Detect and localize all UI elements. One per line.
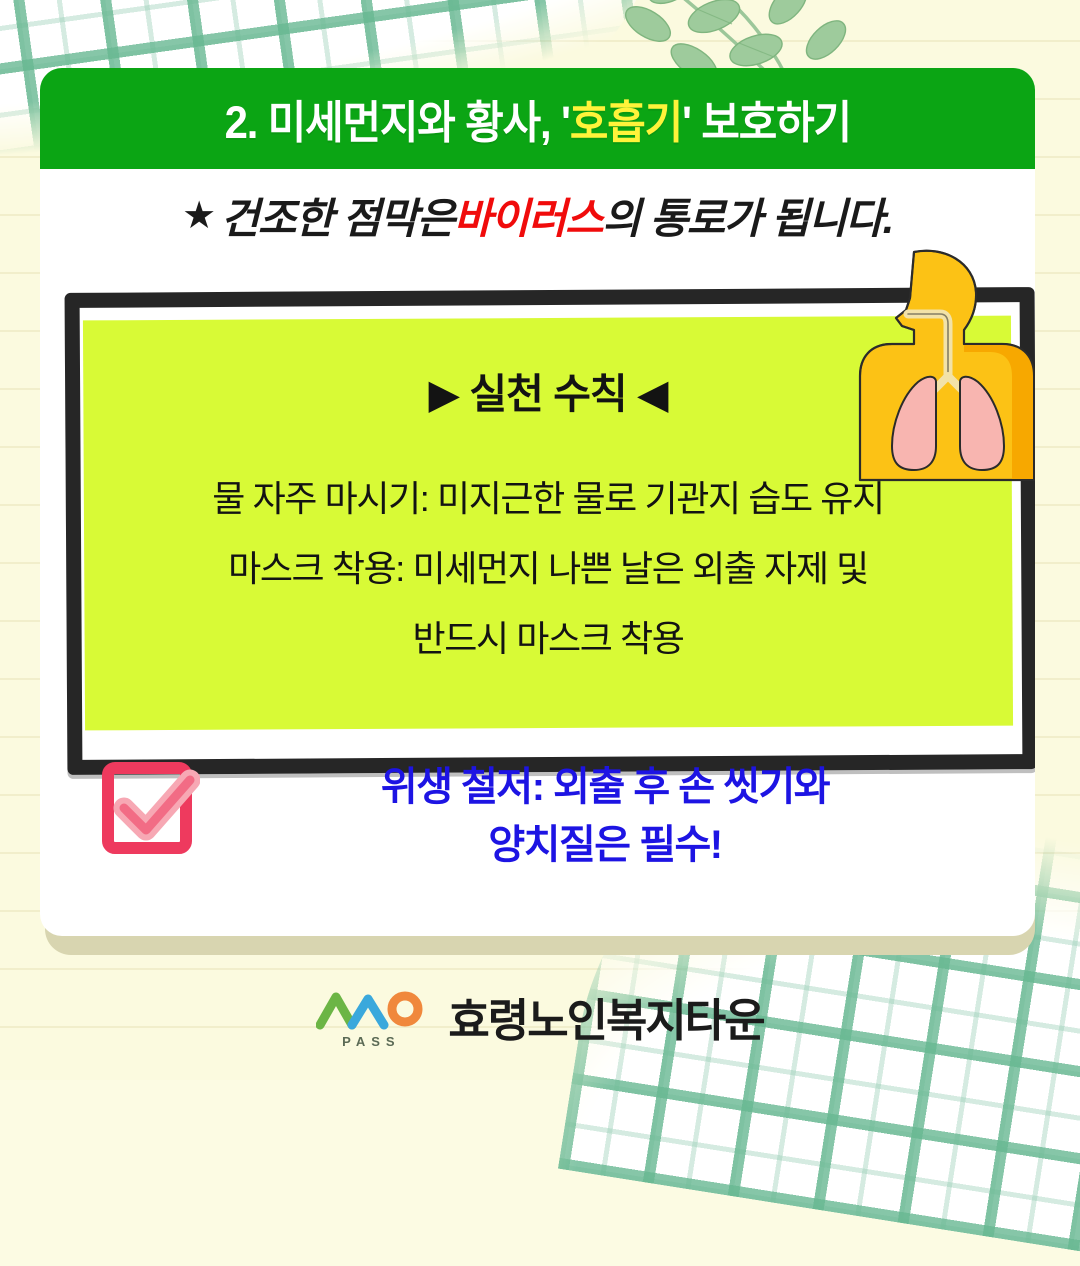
hygiene-message: 위생 철저: 외출 후 손 씻기와 양치질은 필수! [210, 758, 1000, 874]
subtitle-text-after: 의 통로가 됩니다. [602, 185, 893, 246]
title-highlight: 호흡기 [570, 97, 682, 148]
practice-line: 마스크 착용: 미세먼지 나쁜 날은 외출 자제 및 [84, 540, 1012, 592]
organization-name: 효령노인복지타운 [448, 984, 763, 1049]
info-card: 2. 미세먼지와 황사, '호흡기' 보호하기 ★ 건조한 점막은 바이러스의 … [40, 68, 1035, 936]
title-text-after: ' 보호하기 [682, 97, 851, 148]
practice-line: 반드시 마스크 착용 [84, 610, 1012, 662]
pass-logo-icon: PASS [316, 985, 426, 1047]
subtitle-emphasis: 바이러스 [454, 185, 603, 246]
page-title: 2. 미세먼지와 황사, '호흡기' 보호하기 [224, 86, 850, 151]
hygiene-line: 위생 철저: 외출 후 손 씻기와 [210, 758, 1000, 816]
hygiene-line: 양치질은 필수! [210, 816, 1000, 874]
checkbox-checked-icon [102, 760, 200, 858]
title-number: 2. [224, 97, 267, 148]
footer-logo: PASS 효령노인복지타운 [0, 974, 1080, 1058]
paper-rule [0, 968, 1080, 970]
title-text-before: 미세먼지와 황사, ' [268, 97, 570, 148]
star-icon: ★ [182, 193, 215, 238]
subtitle-text-before: 건조한 점막은 [221, 185, 454, 246]
header-band: 2. 미세먼지와 황사, '호흡기' 보호하기 [40, 68, 1035, 169]
pass-logo-word: PASS [316, 1034, 426, 1049]
respiratory-system-icon [852, 248, 1035, 498]
